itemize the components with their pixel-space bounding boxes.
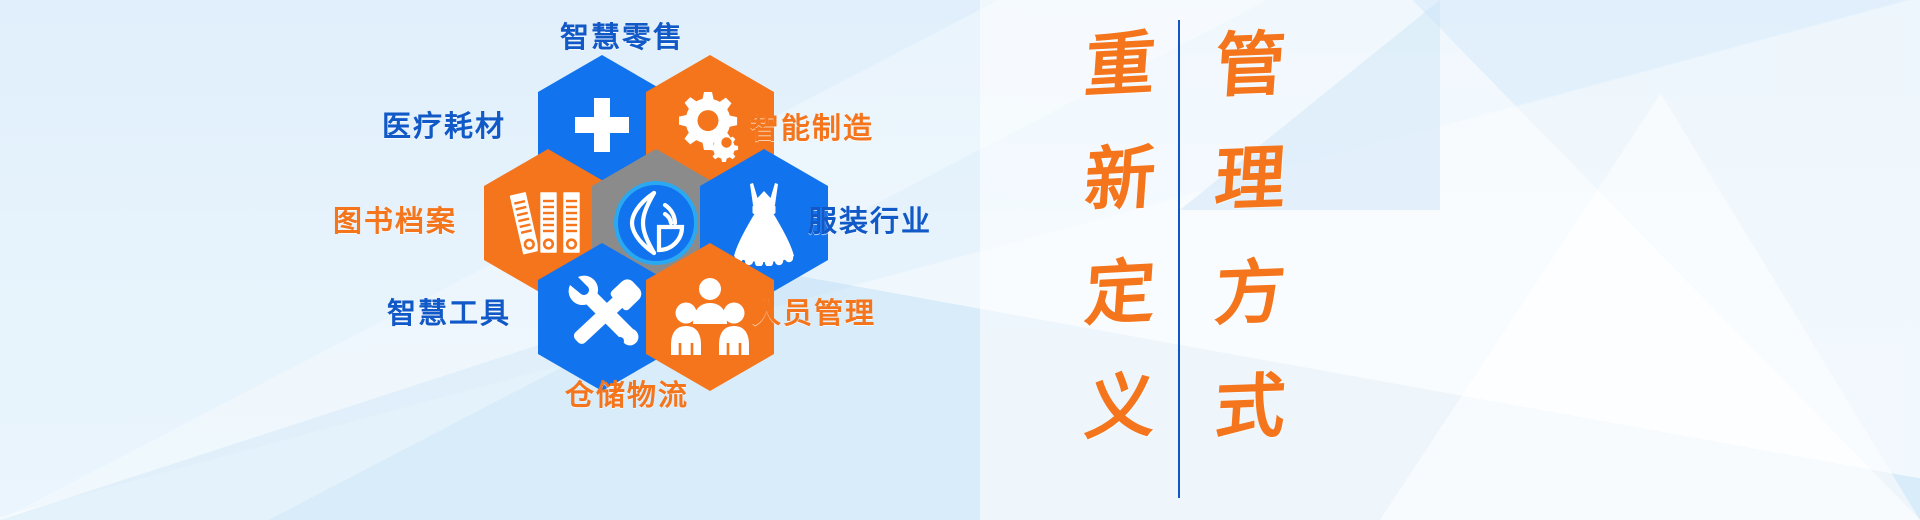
calligraphy-slogan: 重 新 定 义 管 理 方 式 [1050,0,1310,520]
calligraphy-char-5: 管 [1211,9,1289,125]
industry-application-banner: 智慧零售 医疗耗材 智能制造 图书档案 服装行业 智慧工具 人员管理 仓储物流 … [0,0,1920,520]
label-apparel-industry: 服装行业 [808,198,932,240]
dress-icon [726,180,802,266]
rfid-signal-logo-icon [610,177,702,269]
gears-icon [671,90,749,168]
background-diagonal-light-band [0,0,1920,520]
calligraphy-divider-line [1178,20,1180,498]
calligraphy-column-left: 重 新 定 义 [1072,10,1168,510]
people-group-icon [669,277,751,357]
calligraphy-char-7: 方 [1211,237,1289,353]
hexagon-cluster [470,55,770,375]
medical-cross-icon [567,94,637,164]
background-right-peak-wedge [1380,0,1920,520]
label-personnel-management: 人员管理 [752,290,876,332]
archive-binders-icon [508,185,588,261]
label-smart-manufacturing: 智能制造 [750,105,874,147]
calligraphy-column-right: 管 理 方 式 [1202,10,1298,510]
calligraphy-char-3: 定 [1081,236,1159,354]
label-smart-tools: 智慧工具 [387,290,511,332]
calligraphy-char-8: 式 [1211,351,1289,467]
calligraphy-char-1: 重 [1081,8,1159,126]
calligraphy-char-2: 新 [1081,122,1159,240]
label-smart-retail: 智慧零售 [560,14,684,56]
label-warehouse-logistics: 仓储物流 [565,372,689,414]
background-diagonal-blue-wedge [0,0,1920,520]
wrench-screwdriver-icon [560,275,644,359]
background-diagonal-white-stripe [0,0,1920,520]
calligraphy-char-6: 理 [1211,123,1289,239]
label-medical-supplies: 医疗耗材 [382,103,506,145]
calligraphy-char-4: 义 [1081,350,1159,468]
label-library-archives: 图书档案 [333,198,457,240]
